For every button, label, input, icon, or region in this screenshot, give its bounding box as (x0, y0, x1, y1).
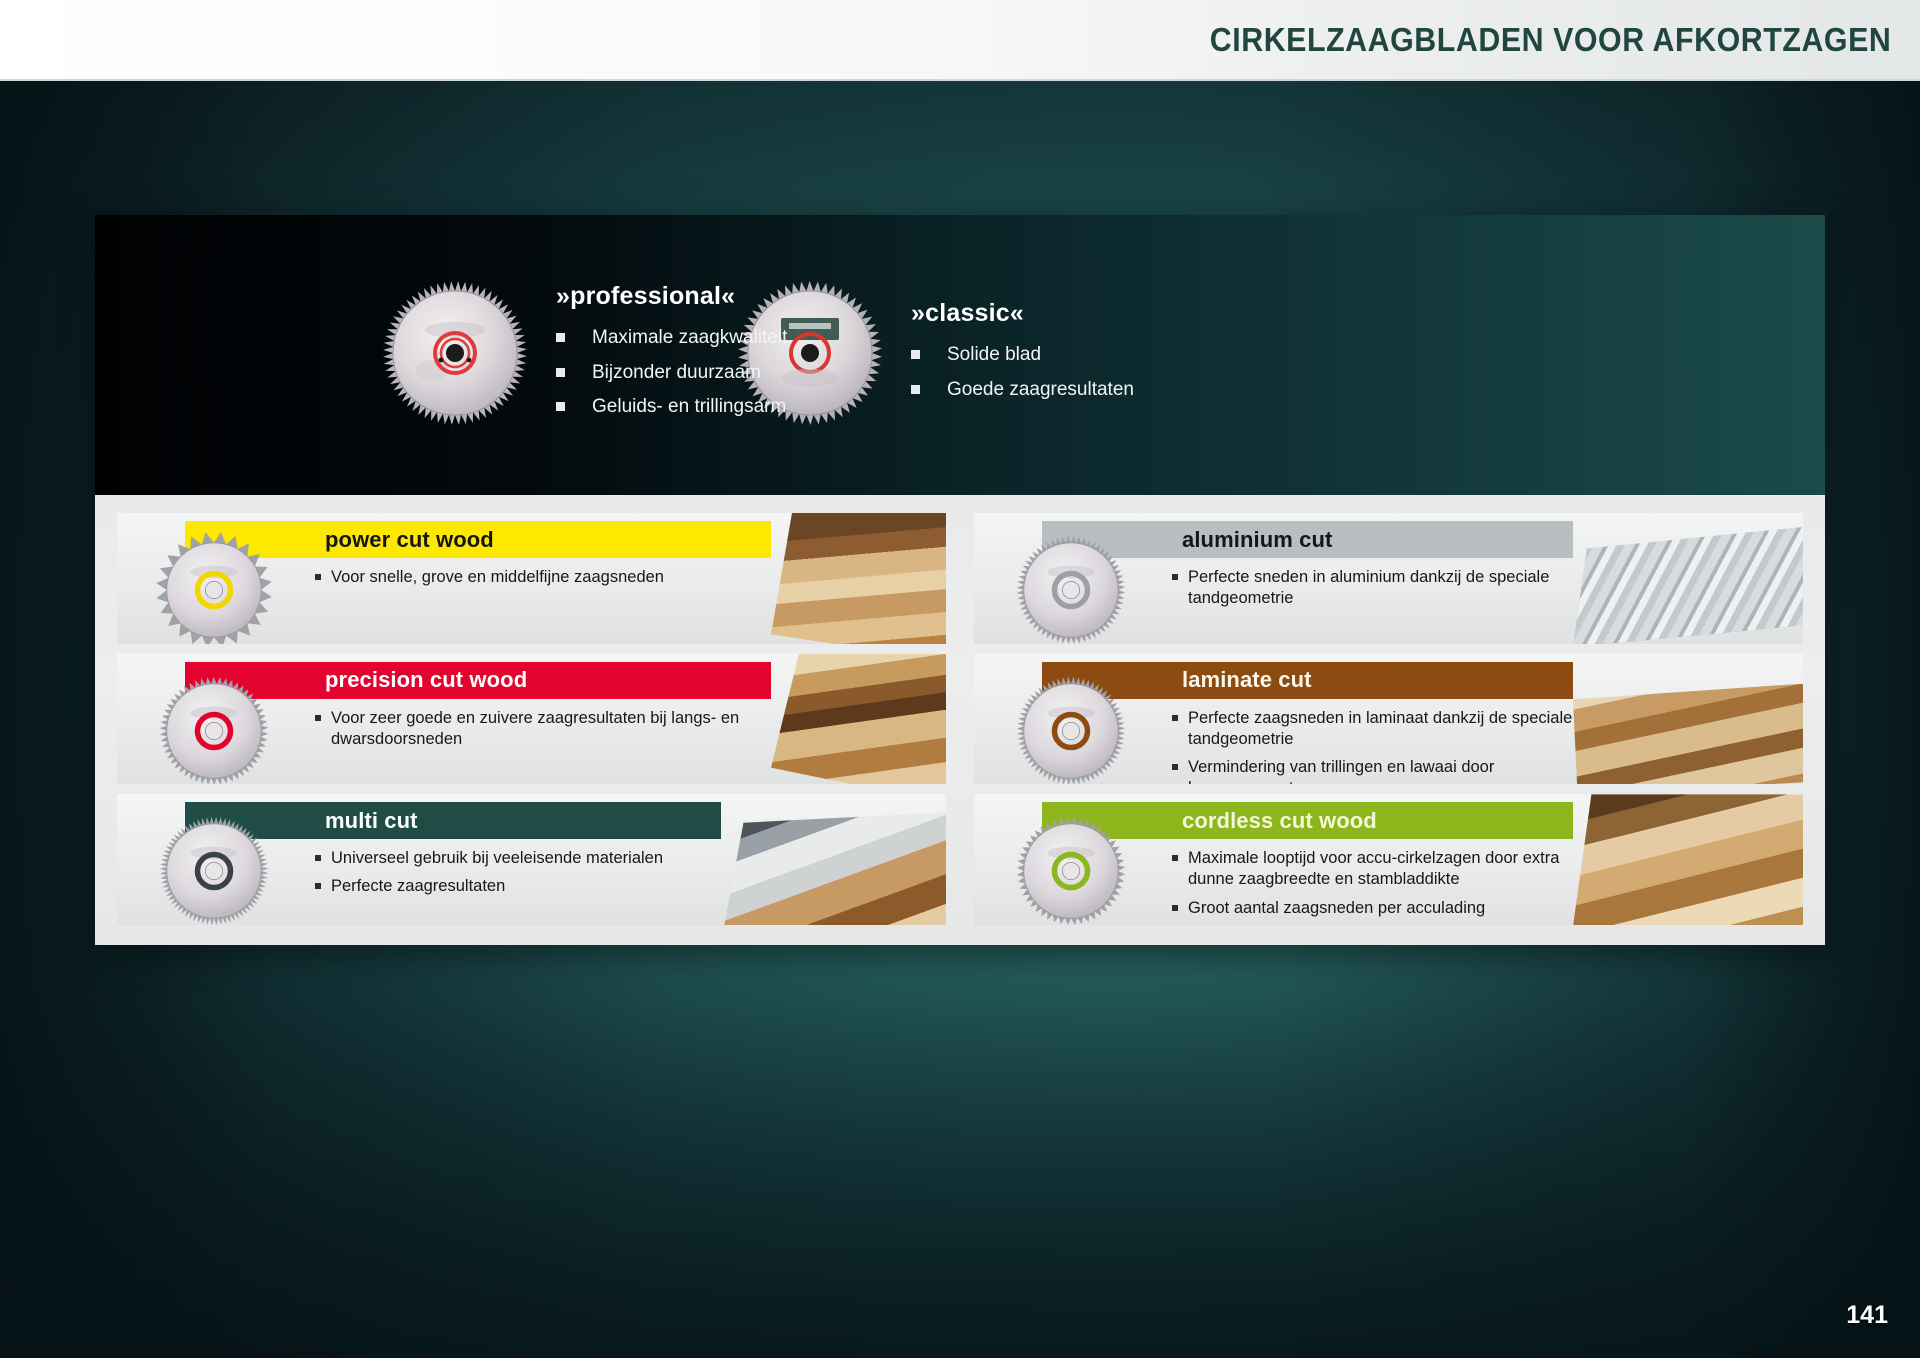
bullet-text: Perfecte sneden in aluminium dankzij de … (1188, 568, 1549, 607)
bullet-text: Solide blad (947, 344, 1041, 365)
product-description: Perfecte zaagsneden in laminaat dankzij … (1172, 708, 1603, 785)
bullet-text: Geluids- en trillingsarm (592, 396, 786, 417)
bullet-square-icon (315, 855, 321, 861)
bullet-square-icon (1172, 574, 1178, 580)
bullet-text: Voor zeer goede en zuivere zaagresultate… (331, 709, 739, 748)
catalog-page: CIRKELZAAGBLADEN VOOR AFKORTZAGEN (0, 0, 1920, 1358)
bullet-text: Groot aantal zaagsneden per acculading (1188, 899, 1485, 917)
bullet-square-icon (315, 883, 321, 889)
hero-column-professional: »professional« Maximale zaagkwaliteit Bi… (95, 215, 675, 495)
list-item: Voor snelle, grove en middelfijne zaagsn… (315, 567, 801, 588)
product-photo-aluminium-profiles (1573, 527, 1803, 644)
product-card-cordless-cut-wood[interactable]: cordless cut woodMaximale looptijd voor … (974, 794, 1803, 925)
bullet-square-icon (1172, 905, 1178, 911)
saw-blade-laminate-cut-icon (1012, 672, 1130, 785)
list-item: Maximale looptijd voor accu-cirkelzagen … (1172, 848, 1603, 890)
product-bullets: Voor zeer goede en zuivere zaagresultate… (315, 708, 801, 750)
bullet-square-icon (911, 350, 920, 359)
saw-blade-professional-icon (380, 278, 530, 433)
saw-blade-cordless-cut-wood-icon (1012, 812, 1130, 925)
product-card-laminate-cut[interactable]: laminate cutPerfecte zaagsneden in lamin… (974, 654, 1803, 785)
product-description: Voor snelle, grove en middelfijne zaagsn… (315, 567, 801, 595)
product-grid: power cut woodVoor snelle, grove en midd… (95, 495, 1825, 945)
saw-blade-power-cut-wood-icon (155, 531, 273, 644)
product-photo-mixed-materials (721, 812, 946, 925)
list-item: Perfecte zaagsneden in laminaat dankzij … (1172, 708, 1603, 750)
product-bullets: Universeel gebruik bij veeleisende mater… (315, 848, 751, 897)
bullet-square-icon (315, 574, 321, 580)
bullet-square-icon (556, 402, 565, 411)
list-item: Universeel gebruik bij veeleisende mater… (315, 848, 751, 869)
product-bullets: Perfecte zaagsneden in laminaat dankzij … (1172, 708, 1603, 785)
hero-bullets-classic: Solide blad Goede zaagresultaten (911, 341, 1134, 405)
hero-section: »professional« Maximale zaagkwaliteit Bi… (95, 215, 1825, 495)
list-item: Bijzonder duurzaam (556, 359, 787, 388)
product-description: Perfecte sneden in aluminium dankzij de … (1172, 567, 1603, 616)
bullet-square-icon (1172, 715, 1178, 721)
hero-bullets-professional: Maximale zaagkwaliteit Bijzonder duurzaa… (556, 324, 787, 423)
bullet-text: Maximale zaagkwaliteit (592, 327, 787, 348)
list-item: Voor zeer goede en zuivere zaagresultate… (315, 708, 801, 750)
bullet-text: Bijzonder duurzaam (592, 362, 761, 383)
bullet-text: Voor snelle, grove en middelfijne zaagsn… (331, 568, 664, 586)
list-item: Perfecte sneden in aluminium dankzij de … (1172, 567, 1603, 609)
product-bullets: Voor snelle, grove en middelfijne zaagsn… (315, 567, 801, 588)
product-photo-timber-stack (1573, 794, 1803, 925)
page-number: 141 (1846, 1301, 1888, 1330)
bullet-square-icon (556, 333, 565, 342)
content-panel: »professional« Maximale zaagkwaliteit Bi… (95, 215, 1825, 945)
bullet-text: Perfecte zaagresultaten (331, 877, 505, 895)
product-card-multi-cut[interactable]: multi cutUniverseel gebruik bij veeleise… (117, 794, 946, 925)
product-description: Universeel gebruik bij veeleisende mater… (315, 848, 751, 904)
list-item: Solide blad (911, 341, 1134, 370)
bullet-text: Goede zaagresultaten (947, 379, 1134, 400)
bullet-square-icon (556, 368, 565, 377)
product-photo-laminate-boards (1573, 684, 1803, 785)
hero-heading-classic: »classic« (911, 299, 1134, 328)
list-item: Geluids- en trillingsarm (556, 393, 787, 422)
product-card-precision-cut-wood[interactable]: precision cut woodVoor zeer goede en zui… (117, 654, 946, 785)
product-card-aluminium-cut[interactable]: aluminium cutPerfecte sneden in aluminiu… (974, 513, 1803, 644)
product-description: Maximale looptijd voor accu-cirkelzagen … (1172, 848, 1603, 925)
product-bullets: Perfecte sneden in aluminium dankzij de … (1172, 567, 1603, 609)
bullet-text: Vermindering van trillingen en lawaai do… (1188, 758, 1494, 784)
saw-blade-multi-cut-icon (155, 812, 273, 925)
list-item: Vermindering van trillingen en lawaai do… (1172, 757, 1603, 784)
bullet-text: Maximale looptijd voor accu-cirkelzagen … (1188, 849, 1559, 888)
bullet-square-icon (1172, 855, 1178, 861)
product-description: Voor zeer goede en zuivere zaagresultate… (315, 708, 801, 757)
page-header: CIRKELZAAGBLADEN VOOR AFKORTZAGEN (0, 0, 1920, 81)
product-card-power-cut-wood[interactable]: power cut woodVoor snelle, grove en midd… (117, 513, 946, 644)
bullet-square-icon (315, 715, 321, 721)
product-bullets: Maximale looptijd voor accu-cirkelzagen … (1172, 848, 1603, 918)
list-item: Goede zaagresultaten (911, 376, 1134, 405)
list-item: Groot aantal zaagsneden per acculading (1172, 898, 1603, 919)
saw-blade-aluminium-cut-icon (1012, 531, 1130, 644)
hero-text-classic: »classic« Solide blad Goede zaagresultat… (911, 299, 1134, 411)
saw-blade-precision-cut-wood-icon (155, 672, 273, 785)
list-item: Maximale zaagkwaliteit (556, 324, 787, 353)
hero-column-classic: »classic« Solide blad Goede zaagresultat… (675, 215, 1275, 495)
page-title: CIRKELZAAGBLADEN VOOR AFKORTZAGEN (1210, 21, 1920, 59)
bullet-square-icon (911, 385, 920, 394)
bullet-text: Perfecte zaagsneden in laminaat dankzij … (1188, 709, 1572, 748)
list-item: Perfecte zaagresultaten (315, 876, 751, 897)
bullet-square-icon (1172, 764, 1178, 770)
bullet-text: Universeel gebruik bij veeleisende mater… (331, 849, 663, 867)
